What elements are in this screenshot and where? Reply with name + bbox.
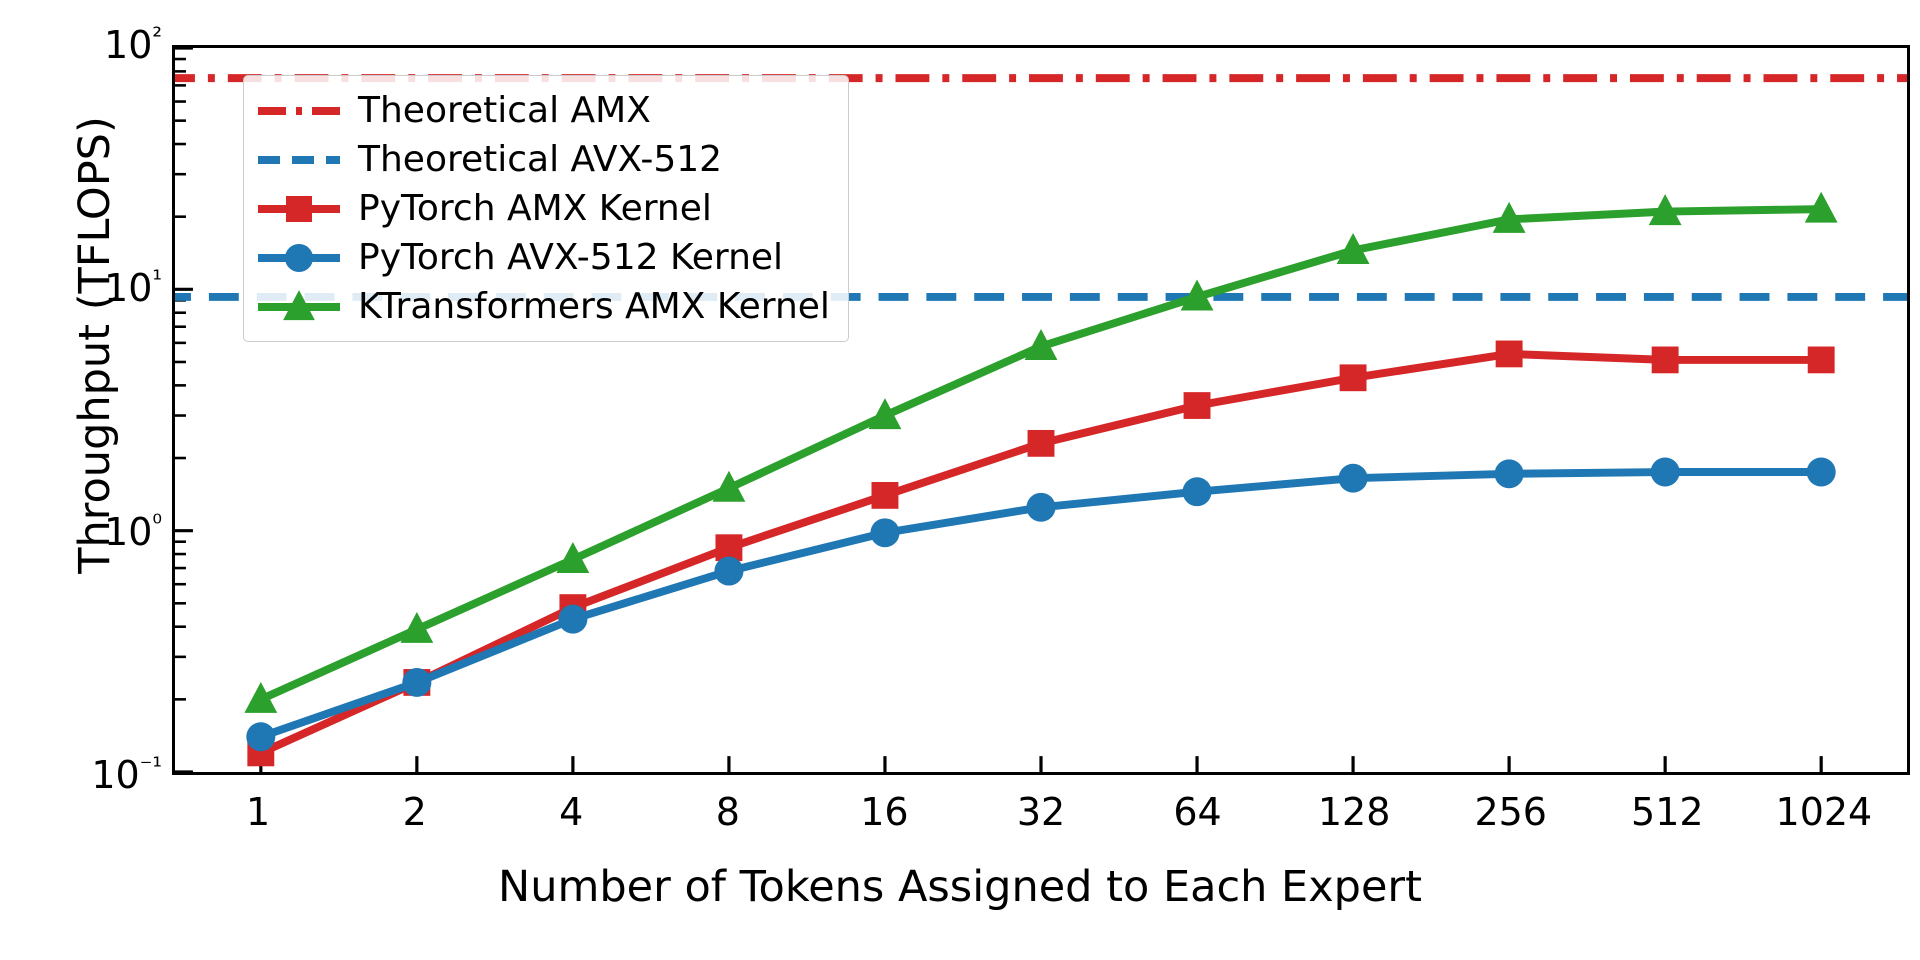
x-tick-label: 64 xyxy=(1173,790,1221,834)
x-tick-label: 1 xyxy=(246,790,270,834)
x-tick-label: 1024 xyxy=(1776,790,1873,834)
data-point xyxy=(1184,392,1211,419)
x-tick-label: 16 xyxy=(860,790,908,834)
y-tick-label: 10² xyxy=(104,23,162,67)
data-point xyxy=(1807,458,1836,487)
data-point xyxy=(1651,458,1680,487)
legend-label: KTransformers AMX Kernel xyxy=(358,289,830,325)
y-axis-ticks xyxy=(175,48,193,772)
data-point xyxy=(1339,464,1368,493)
legend-key-circle-icon xyxy=(256,238,342,278)
legend-label: Theoretical AVX-512 xyxy=(358,142,722,178)
x-tick-label: 2 xyxy=(403,790,427,834)
legend-item-3[interactable]: PyTorch AVX-512 Kernel xyxy=(256,233,830,282)
x-tick-label: 512 xyxy=(1631,790,1704,834)
data-point xyxy=(1340,364,1367,391)
legend-item-4[interactable]: KTransformers AMX Kernel xyxy=(256,282,830,331)
chart-legend: Theoretical AMXTheoretical AVX-512PyTorc… xyxy=(243,75,849,342)
legend-item-2[interactable]: PyTorch AMX Kernel xyxy=(256,184,830,233)
legend-label: PyTorch AVX-512 Kernel xyxy=(358,240,783,276)
data-point xyxy=(1495,459,1524,488)
legend-key-triangle-icon xyxy=(256,287,342,327)
data-point xyxy=(558,605,587,634)
x-tick-label: 256 xyxy=(1474,790,1547,834)
data-point xyxy=(1028,430,1055,457)
data-point xyxy=(1183,477,1212,506)
series-2 xyxy=(247,341,1834,767)
legend-key-none-icon xyxy=(256,91,342,131)
x-axis-ticks xyxy=(261,756,1821,772)
legend-key-square-icon xyxy=(256,189,342,229)
legend-label: Theoretical AMX xyxy=(358,93,651,129)
y-axis-title: Throughput (TFLOPS) xyxy=(70,0,120,695)
legend-item-0[interactable]: Theoretical AMX xyxy=(256,86,830,135)
legend-label: PyTorch AMX Kernel xyxy=(358,191,712,227)
data-point xyxy=(402,668,431,697)
data-point xyxy=(1026,493,1055,522)
x-tick-label: 128 xyxy=(1318,790,1391,834)
data-point xyxy=(714,557,743,586)
x-tick-label: 32 xyxy=(1017,790,1065,834)
data-point xyxy=(870,518,899,547)
series-3 xyxy=(246,458,1835,752)
data-point xyxy=(1652,347,1679,374)
y-tick-label: 10⁻¹ xyxy=(91,753,162,797)
x-tick-label: 4 xyxy=(559,790,583,834)
chart-figure: Throughput (TFLOPS) Number of Tokens Ass… xyxy=(0,0,1920,960)
x-tick-label: 8 xyxy=(716,790,740,834)
data-point xyxy=(246,722,275,751)
legend-key-none-icon xyxy=(256,140,342,180)
y-tick-label: 10⁰ xyxy=(104,510,162,554)
y-tick-label: 10¹ xyxy=(104,266,162,310)
data-point xyxy=(1808,347,1835,374)
x-axis-title: Number of Tokens Assigned to Each Expert xyxy=(0,862,1920,912)
data-point xyxy=(872,482,899,509)
data-point xyxy=(1496,341,1523,368)
legend-item-1[interactable]: Theoretical AVX-512 xyxy=(256,135,830,184)
